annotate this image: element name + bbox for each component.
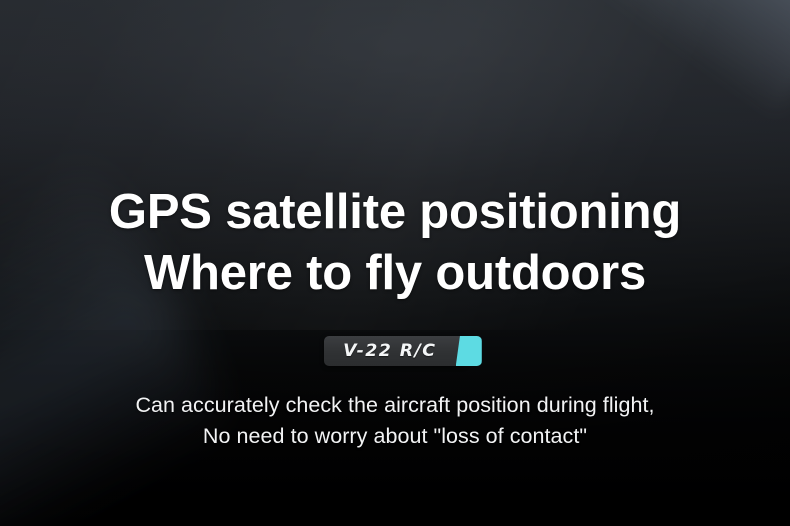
page-title-line-1: GPS satellite positioning: [0, 182, 790, 243]
product-hero-banner: GPS satellite positioning Where to fly o…: [0, 0, 790, 526]
page-title: GPS satellite positioning Where to fly o…: [0, 182, 790, 304]
model-badge-row: V-22 R/C: [0, 336, 790, 366]
page-subtitle-line-2: No need to worry about "loss of contact": [0, 421, 790, 452]
hero-content: GPS satellite positioning Where to fly o…: [0, 0, 790, 526]
model-badge-accent-shape: [456, 336, 482, 366]
page-subtitle: Can accurately check the aircraft positi…: [0, 390, 790, 452]
model-badge: V-22 R/C: [324, 336, 466, 366]
model-badge-label: V-22 R/C: [343, 341, 436, 361]
page-subtitle-line-1: Can accurately check the aircraft positi…: [0, 390, 790, 421]
page-title-line-2: Where to fly outdoors: [0, 243, 790, 304]
